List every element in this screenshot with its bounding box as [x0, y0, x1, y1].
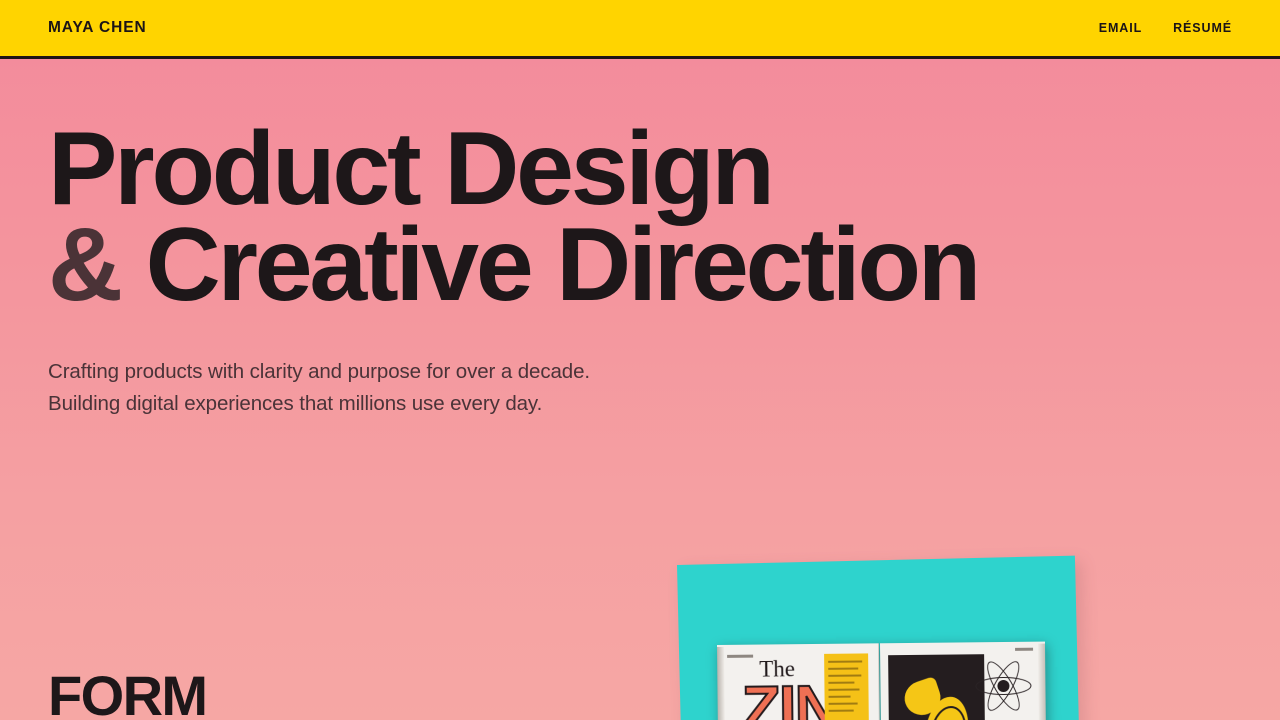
site-header: MAYA CHEN EMAIL RÉSUMÉ	[0, 0, 1280, 59]
nav-link-resume[interactable]: RÉSUMÉ	[1173, 21, 1232, 35]
headline-line-1: Product Design	[48, 121, 1232, 217]
page-title: Product Design & Creative Direction	[48, 121, 1232, 313]
primary-navigation: EMAIL RÉSUMÉ	[1099, 21, 1232, 35]
brand-logo[interactable]: MAYA CHEN	[48, 19, 147, 37]
subtitle-line-1: Crafting products with clarity and purpo…	[48, 356, 1232, 388]
open-magazine: The ZIN	[717, 642, 1047, 720]
headline-line-2: & Creative Direction	[48, 217, 1232, 313]
yellow-text-column	[824, 653, 869, 720]
magazine-left-page: The ZIN	[717, 643, 881, 720]
headline-ampersand: &	[48, 207, 120, 323]
hero-section: Product Design & Creative Direction Craf…	[0, 59, 1280, 420]
page-folio	[1015, 648, 1033, 651]
hero-photo: The ZIN	[655, 548, 1125, 720]
headline-line-2-text: Creative Direction	[146, 207, 979, 323]
portfolio-landing-page: MAYA CHEN EMAIL RÉSUMÉ Product Design & …	[0, 0, 1280, 720]
magazine-right-page	[880, 642, 1047, 720]
nav-link-email[interactable]: EMAIL	[1099, 21, 1142, 35]
left-page-kicker	[727, 655, 753, 658]
subtitle-line-2: Building digital experiences that millio…	[48, 388, 1232, 420]
hero-subtitle: Crafting products with clarity and purpo…	[48, 356, 1232, 420]
atom-diagram-icon	[975, 658, 1032, 715]
section-heading-form: FORM	[48, 668, 206, 720]
black-illustration-panel	[888, 654, 985, 720]
